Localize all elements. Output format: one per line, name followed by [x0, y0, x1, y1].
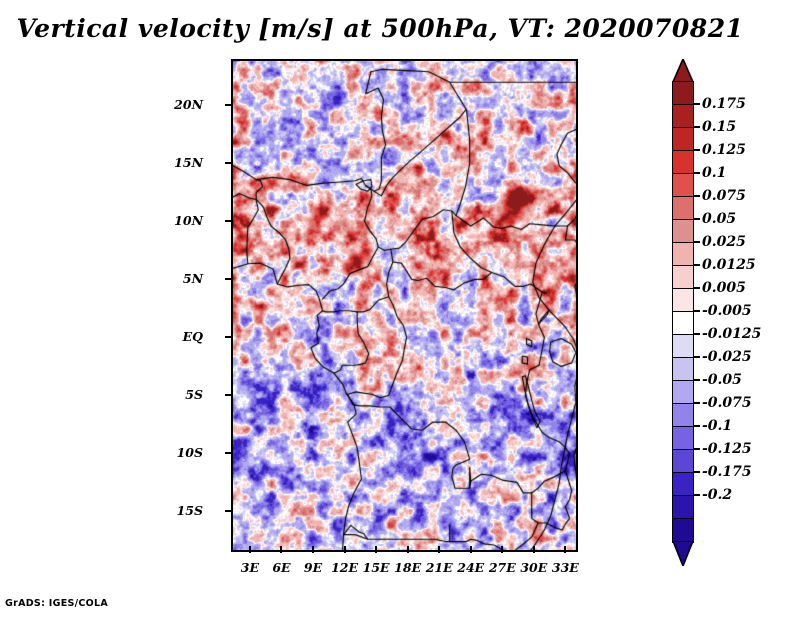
colorbar-label: -0.125: [702, 441, 752, 457]
colorbar-label: 0.005: [702, 280, 746, 296]
colorbar-swatch: [672, 403, 694, 428]
colorbar-label: -0.075: [702, 395, 752, 411]
colorbar-label: -0.2: [702, 487, 732, 503]
colorbar[interactable]: 0.1750.150.1250.10.0750.050.0250.01250.0…: [672, 59, 792, 559]
grads-plot-page: Vertical velocity [m/s] at 500hPa, VT: 2…: [0, 0, 800, 618]
x-axis-tick-mark: [249, 546, 251, 553]
colorbar-tick: [694, 402, 700, 404]
y-axis-tick-label: 15S: [163, 503, 203, 518]
colorbar-swatch: [672, 472, 694, 497]
y-axis-tick-label: 5S: [163, 387, 203, 402]
x-axis-tick-label: 33E: [545, 560, 585, 575]
colorbar-swatch: [672, 357, 694, 382]
colorbar-tick: [694, 241, 700, 243]
colorbar-swatch: [672, 242, 694, 267]
colorbar-label: -0.0125: [702, 326, 761, 342]
colorbar-label: -0.175: [702, 464, 752, 480]
colorbar-swatch: [672, 426, 694, 451]
colorbar-tick: [694, 333, 700, 335]
colorbar-label: 0.15: [702, 119, 736, 135]
colorbar-swatch: [672, 265, 694, 290]
colorbar-swatch: [672, 173, 694, 198]
colorbar-tick: [694, 425, 700, 427]
x-axis-tick-mark: [375, 546, 377, 553]
colorbar-tick: [694, 471, 700, 473]
colorbar-swatch: [672, 449, 694, 474]
colorbar-tick: [694, 218, 700, 220]
colorbar-tick: [694, 287, 700, 289]
colorbar-tick: [694, 149, 700, 151]
colorbar-label: 0.075: [702, 188, 746, 204]
colorbar-swatch: [672, 334, 694, 359]
colorbar-tick: [694, 195, 700, 197]
colorbar-tick: [694, 356, 700, 358]
colorbar-label: -0.1: [702, 418, 732, 434]
x-axis-tick-mark: [564, 546, 566, 553]
colorbar-tick: [694, 310, 700, 312]
colorbar-swatch: [672, 219, 694, 244]
colorbar-label: -0.025: [702, 349, 752, 365]
x-axis-tick-mark: [470, 546, 472, 553]
colorbar-swatch: [672, 311, 694, 336]
y-axis-tick-label: EQ: [163, 329, 203, 344]
colorbar-label: 0.025: [702, 234, 746, 250]
y-axis-tick-mark: [225, 452, 232, 454]
colorbar-swatch: [672, 196, 694, 221]
y-axis-tick-mark: [225, 510, 232, 512]
colorbar-tick: [694, 379, 700, 381]
y-axis-tick-label: 10N: [163, 213, 203, 228]
colorbar-swatch: [672, 81, 694, 106]
footer-credit: GrADS: IGES/COLA: [5, 598, 108, 609]
x-axis-tick-mark: [533, 546, 535, 553]
colorbar-swatch: [672, 288, 694, 313]
x-axis-tick-mark: [344, 546, 346, 553]
colorbar-top-arrow: [672, 59, 694, 81]
x-axis-tick-mark: [501, 546, 503, 553]
colorbar-swatch: [672, 104, 694, 129]
colorbar-swatch: [672, 518, 694, 543]
x-axis-tick-mark: [312, 546, 314, 553]
y-axis-tick-mark: [225, 162, 232, 164]
colorbar-label: 0.05: [702, 211, 736, 227]
y-axis-tick-label: 5N: [163, 271, 203, 286]
colorbar-label: 0.175: [702, 96, 746, 112]
x-axis-tick-mark: [407, 546, 409, 553]
x-axis-tick-mark: [438, 546, 440, 553]
colorbar-swatch: [672, 150, 694, 175]
colorbar-label: -0.005: [702, 303, 752, 319]
map-plot-area[interactable]: [231, 59, 578, 552]
y-axis-tick-label: 15N: [163, 155, 203, 170]
colorbar-tick: [694, 494, 700, 496]
y-axis-tick-label: 10S: [163, 445, 203, 460]
y-axis-tick-mark: [225, 336, 232, 338]
page-title: Vertical velocity [m/s] at 500hPa, VT: 2…: [0, 14, 760, 43]
colorbar-tick: [694, 264, 700, 266]
colorbar-label: 0.0125: [702, 257, 756, 273]
x-axis-tick-mark: [280, 546, 282, 553]
colorbar-swatch: [672, 127, 694, 152]
colorbar-tick: [694, 172, 700, 174]
colorbar-label: 0.1: [702, 165, 726, 181]
y-axis-tick-mark: [225, 220, 232, 222]
vertical-velocity-field: [231, 59, 578, 552]
colorbar-tick: [694, 103, 700, 105]
y-axis-tick-label: 20N: [163, 97, 203, 112]
colorbar-tick: [694, 448, 700, 450]
y-axis-tick-mark: [225, 278, 232, 280]
y-axis-tick-mark: [225, 104, 232, 106]
y-axis-tick-mark: [225, 394, 232, 396]
colorbar-tick: [694, 126, 700, 128]
colorbar-bottom-arrow: [672, 541, 694, 563]
colorbar-label: 0.125: [702, 142, 746, 158]
colorbar-label: -0.05: [702, 372, 742, 388]
colorbar-swatch: [672, 495, 694, 520]
colorbar-swatch: [672, 380, 694, 405]
